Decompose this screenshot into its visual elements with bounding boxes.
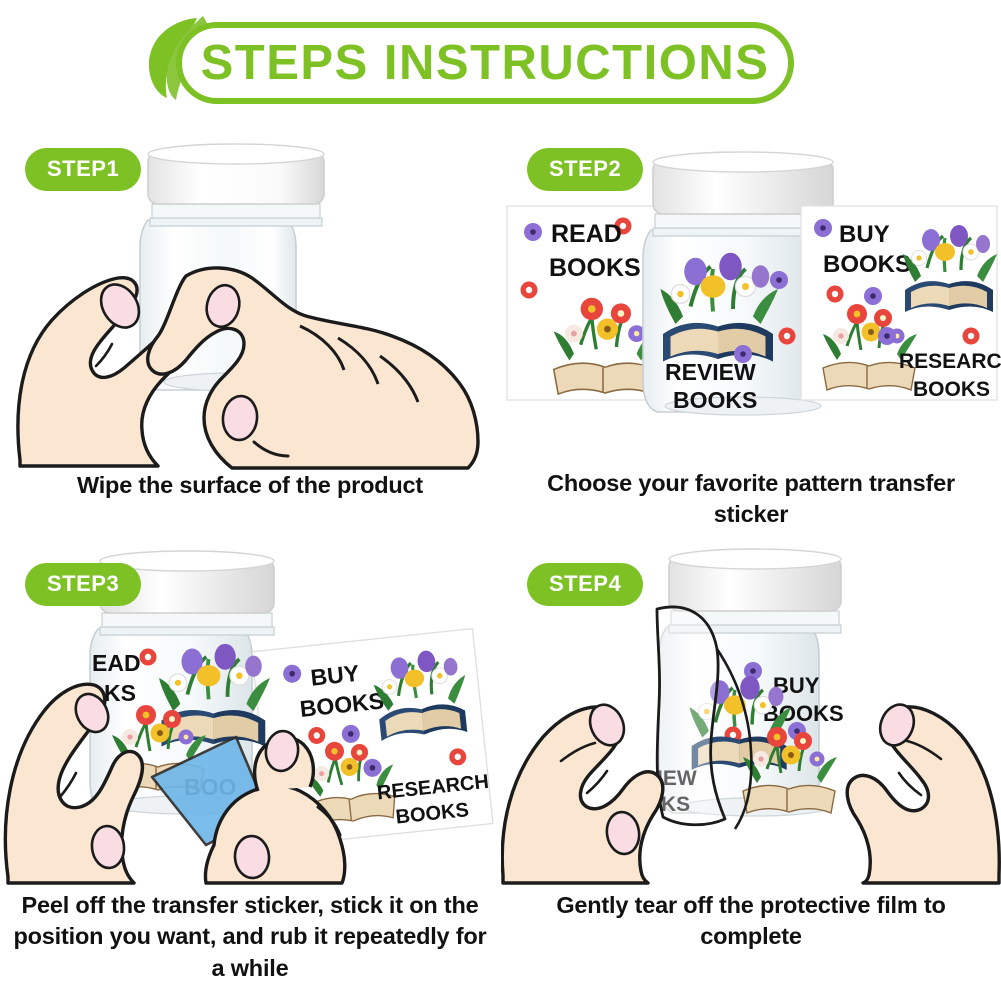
svg-text:BOOKS: BOOKS [913, 378, 990, 401]
left-hand-peeling-film [502, 699, 663, 883]
jar-label-partial-ks: KS [104, 680, 136, 706]
svg-text:BOOKS: BOOKS [673, 387, 757, 413]
jar-label-review-books: REVIEW [665, 359, 756, 385]
sticker-label-research-books: RESEARCH [899, 350, 1001, 373]
step-badge-1: STEP1 [25, 148, 141, 191]
sticker-label-read-books: READ [551, 220, 622, 248]
right-hand-holding-jar [847, 700, 999, 883]
step-caption-1: Wipe the surface of the product [6, 470, 494, 501]
step-badge-2: STEP2 [527, 148, 643, 191]
step-badge-3: STEP3 [25, 563, 141, 606]
step-caption-2: Choose your favorite pattern transfer st… [507, 468, 995, 531]
sticker-label-buy-books-3: BUY [309, 660, 360, 691]
step-caption-4: Gently tear off the protective film to c… [507, 890, 995, 953]
sticker-sheet-right: BUY BOOKS RESEARCH BOOKS [801, 206, 1001, 401]
step-panel-1: STEP1 [0, 130, 500, 570]
svg-text:BOOKS: BOOKS [549, 254, 641, 282]
step-panel-4: STEP4 BUY BOOKS [501, 545, 1001, 985]
step-badge-4: STEP4 [527, 563, 643, 606]
svg-text:BOOKS: BOOKS [823, 251, 911, 278]
step-panel-2: STEP2 [501, 130, 1001, 570]
step-caption-3: Peel off the transfer sticker, stick it … [6, 890, 494, 984]
page-header: STEPS INSTRUCTIONS [0, 8, 1001, 118]
sticker-label-buy-books: BUY [839, 221, 890, 248]
step-panel-3: STEP3 BUY BOOKS RESEARCH BOOKS [0, 545, 500, 985]
page-title: STEPS INSTRUCTIONS [176, 22, 794, 104]
jar-label-partial-ead: EAD [92, 650, 141, 676]
